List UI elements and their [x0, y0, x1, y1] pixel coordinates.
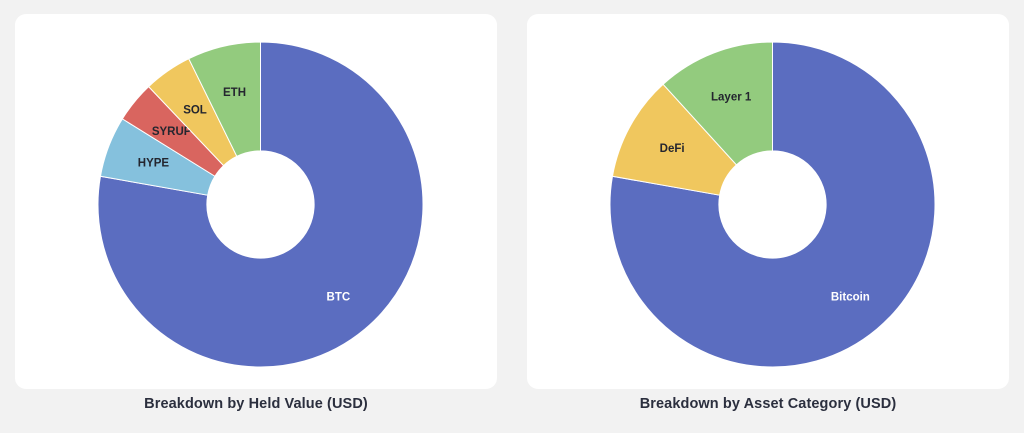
- charts-board: BTCHYPESYRUPSOLETH Breakdown by Held Val…: [0, 0, 1024, 433]
- chart-caption-held-value: Breakdown by Held Value (USD): [0, 396, 512, 412]
- pie-slice-label-btc: BTC: [327, 291, 351, 303]
- pie-slice-label-bitcoin: Bitcoin: [831, 291, 870, 303]
- pie-slice-label-syrup: SYRUP: [152, 126, 192, 138]
- donut-chart-held-value[interactable]: BTCHYPESYRUPSOLETH: [15, 14, 497, 389]
- chart-caption-asset-category: Breakdown by Asset Category (USD): [512, 396, 1024, 412]
- pie-slice-label-eth: ETH: [223, 87, 246, 99]
- pie-slice-label-layer-1: Layer 1: [711, 92, 752, 104]
- chart-card-asset-category: BitcoinDeFiLayer 1: [527, 14, 1009, 389]
- donut-chart-asset-category[interactable]: BitcoinDeFiLayer 1: [527, 14, 1009, 389]
- chart-panel-asset-category: BitcoinDeFiLayer 1 Breakdown by Asset Ca…: [512, 0, 1024, 433]
- chart-card-held-value: BTCHYPESYRUPSOLETH: [15, 14, 497, 389]
- chart-panel-held-value: BTCHYPESYRUPSOLETH Breakdown by Held Val…: [0, 0, 512, 433]
- pie-slice-label-hype: HYPE: [138, 158, 170, 170]
- pie-slice-label-defi: DeFi: [660, 143, 685, 155]
- pie-slice-label-sol: SOL: [183, 104, 207, 116]
- donut-svg-held-value[interactable]: BTCHYPESYRUPSOLETH: [15, 14, 497, 389]
- donut-svg-asset-category[interactable]: BitcoinDeFiLayer 1: [527, 14, 1009, 389]
